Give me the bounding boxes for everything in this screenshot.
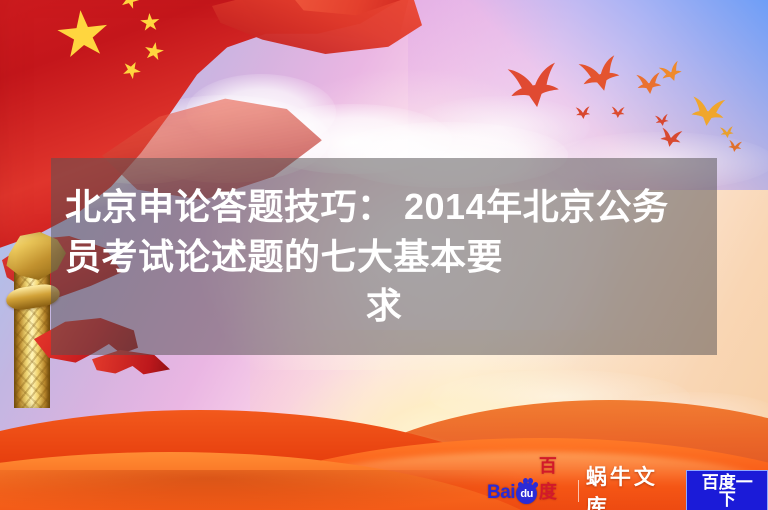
bird-1-icon [505, 59, 563, 112]
bird-5-icon [689, 94, 728, 128]
baidu-paw-icon: du [516, 481, 538, 504]
page-title: 北京申论答题技巧： 2014年北京公务员考试论述题的七大基本要求 [65, 182, 703, 331]
title-line-1: 北京申论答题技巧： 2014年北京 [65, 186, 596, 227]
baidu-wordmark-cn: 百度 [539, 452, 571, 504]
bird-7-icon [610, 106, 626, 119]
site-brand-label: 蜗牛文库 [586, 461, 679, 510]
title-line-3: 求 [65, 281, 703, 331]
baidu-wordmark-prefix: Bai [487, 482, 515, 504]
cover-image-canvas: 北京申论答题技巧： 2014年北京公务员考试论述题的七大基本要求 Bai du … [0, 0, 768, 510]
paw-chip-label: du [516, 483, 537, 504]
title-overlay-panel: 北京申论答题技巧： 2014年北京公务员考试论述题的七大基本要求 [51, 158, 717, 355]
pillar-engraving [14, 258, 50, 408]
hill-shadow [0, 470, 520, 510]
watermark-divider [578, 480, 579, 502]
bird-8-icon [654, 113, 670, 127]
flag-fold [212, 0, 422, 102]
bird-6-icon [575, 105, 592, 119]
pillar-shaft [14, 258, 50, 408]
baidu-search-button[interactable]: 百度一下 [686, 470, 768, 510]
baidu-logo[interactable]: Bai du 百度 [487, 478, 571, 504]
bird-9-icon [659, 126, 684, 149]
bird-10-icon [719, 125, 734, 138]
bird-11-icon [727, 139, 743, 153]
bird-3-icon [635, 71, 663, 96]
watermark-bar: Bai du 百度 蜗牛文库 百度一下 [487, 476, 768, 506]
